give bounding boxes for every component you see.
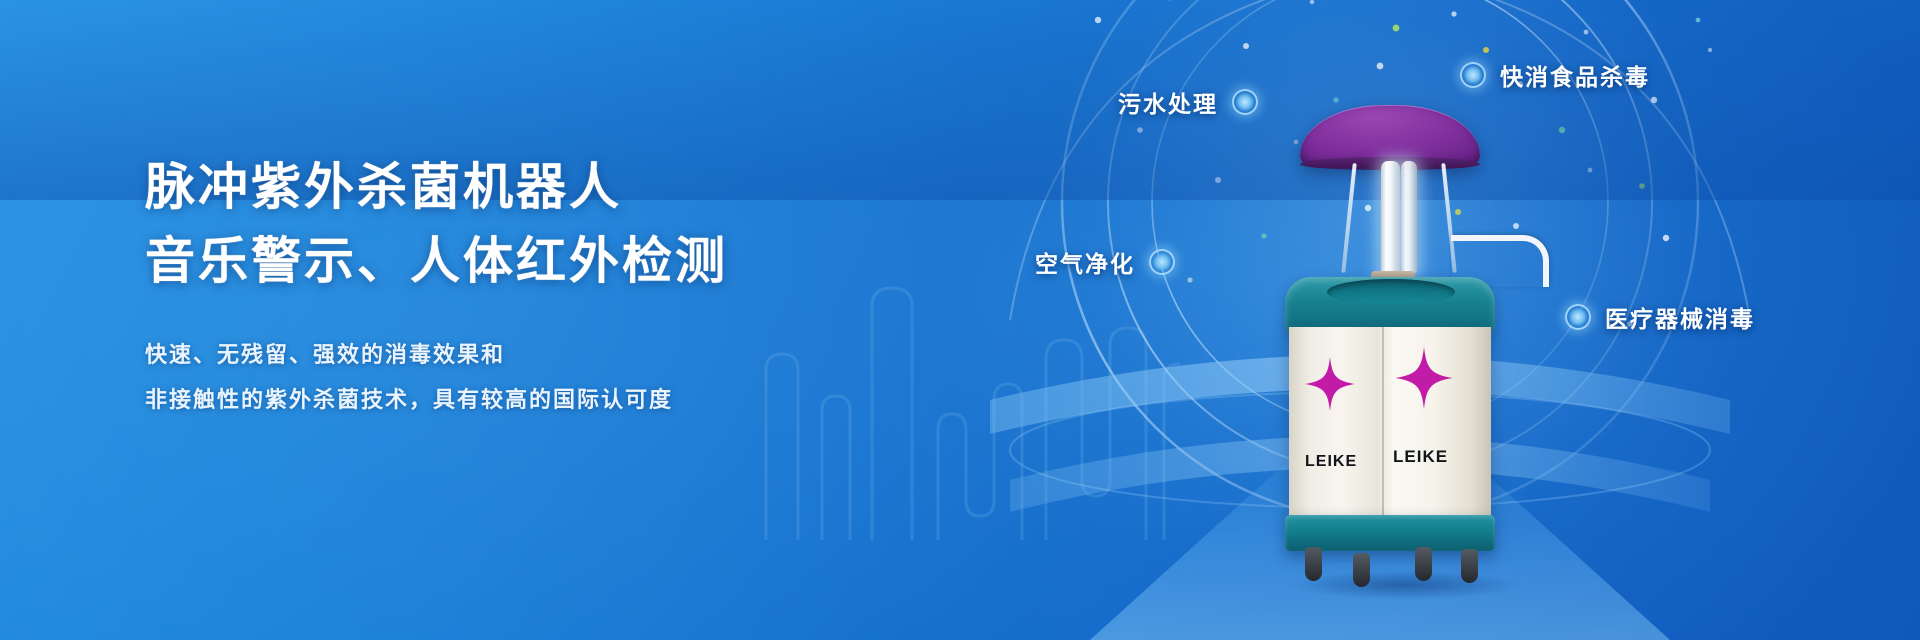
callout-wastewater-treatment: 污水处理 [1118,85,1258,119]
dome-strut-left [1341,163,1356,273]
headline-line-2: 音乐警示、人体红外检测 [145,224,865,298]
glow-dot-icon [1232,89,1258,115]
headline-line-1: 脉冲紫外杀菌机器人 [145,150,865,224]
callout-label: 医疗器械消毒 [1605,300,1755,334]
subtext-line-1: 快速、无残留、强效的消毒效果和 [145,332,865,377]
robot-base [1285,515,1495,551]
callout-food-sterilization: 快消食品杀毒 [1460,58,1650,92]
uv-lamp-tube-secondary [1401,161,1417,273]
glow-dot-icon [1565,304,1591,330]
uv-disinfection-robot: LEIKE LEIKE [1275,95,1535,575]
callout-label: 污水处理 [1118,85,1218,119]
subtext-line-2: 非接触性的紫外杀菌技术，具有较高的国际认可度 [145,377,865,422]
callout-label: 空气净化 [1035,245,1135,279]
caster-wheel [1353,553,1370,587]
caster-wheel [1305,547,1322,581]
four-point-star-icon [1393,347,1455,409]
product-banner: 脉冲紫外杀菌机器人 音乐警示、人体红外检测 快速、无残留、强效的消毒效果和 非接… [0,0,1920,640]
glow-dot-icon [1149,249,1175,275]
robot-top-ring [1327,279,1455,305]
ground-shadow [1245,565,1565,605]
callout-label: 快消食品杀毒 [1500,58,1650,92]
brand-label-left: LEIKE [1305,453,1357,471]
caster-wheel [1415,547,1432,581]
four-point-star-icon [1303,357,1357,411]
glow-dot-icon [1460,62,1486,88]
uv-lamp-tube [1381,161,1400,276]
brand-label-right: LEIKE [1393,447,1448,467]
caster-wheel [1461,549,1478,583]
headline-block: 脉冲紫外杀菌机器人 音乐警示、人体红外检测 快速、无残留、强效的消毒效果和 非接… [145,150,865,422]
subtext-block: 快速、无残留、强效的消毒效果和 非接触性的紫外杀菌技术，具有较高的国际认可度 [145,332,865,422]
robot-body-edge [1382,327,1384,517]
callout-air-purification: 空气净化 [1035,245,1175,279]
callout-medical-device-disinfection: 医疗器械消毒 [1565,300,1755,334]
robot-body-panel [1289,327,1491,517]
